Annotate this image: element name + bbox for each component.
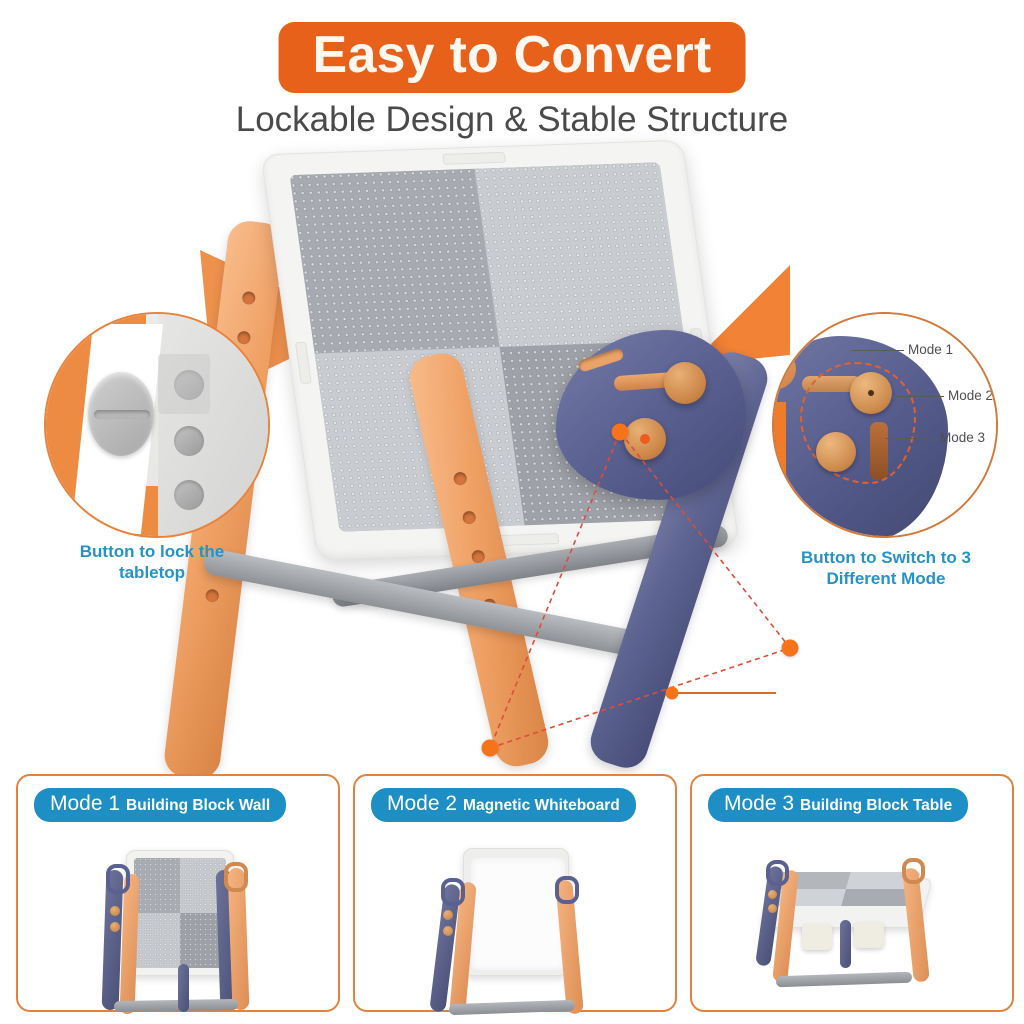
- callout-lock-button-magnifier: [44, 312, 270, 538]
- mode-card-2[interactable]: Mode 2Magnetic Whiteboard: [353, 774, 677, 1012]
- stable-structure-leader-line: [672, 692, 776, 694]
- triangle-vertex-right: [782, 640, 799, 657]
- callout-mode-switch-label: Button to Switch to 3 Different Mode: [768, 548, 1004, 589]
- triangle-vertex-top: [612, 424, 629, 441]
- page-subtitle: Lockable Design & Stable Structure: [236, 100, 789, 140]
- hinge-knob-upper: [664, 362, 706, 404]
- callout-left-line2: tabletop: [119, 563, 185, 582]
- mode-card-3-image: [692, 834, 1012, 1002]
- main-product-scene: Button to lock the tabletop Mode 1: [0, 140, 1024, 770]
- stable-structure-leader-dot: [666, 687, 679, 700]
- callout-lock-button-label: Button to lock the tabletop: [38, 542, 266, 583]
- mode-cards-row: Mode 1Building Block Wall: [0, 774, 1024, 1014]
- mode-card-3-badge: Mode 3Building Block Table: [708, 788, 968, 822]
- tabletop-lock-button: [88, 372, 154, 456]
- triangle-vertex-left: [482, 740, 499, 757]
- mode-card-1-badge: Mode 1Building Block Wall: [34, 788, 286, 822]
- infographic-root: Easy to Convert Lockable Design & Stable…: [0, 0, 1024, 1024]
- mode-card-1-number: Mode 1: [50, 792, 120, 815]
- callout-mode-switch-magnifier: Mode 1 Mode 2 Mode 3: [772, 312, 998, 538]
- mode-card-3-number: Mode 3: [724, 792, 794, 815]
- page-title: Easy to Convert: [279, 22, 746, 93]
- mode-2-leader-label: Mode 2: [948, 388, 993, 403]
- mode-card-1-desc: Building Block Wall: [126, 797, 270, 814]
- mode-switch-knob-upper: [850, 372, 892, 414]
- callout-left-line1: Button to lock the: [80, 542, 224, 561]
- callout-right-line2: Different Mode: [827, 569, 946, 588]
- mode-3-leader-label: Mode 3: [940, 430, 985, 445]
- mode-card-2-desc: Magnetic Whiteboard: [463, 797, 620, 814]
- mode-card-3[interactable]: Mode 3Building Block Table: [690, 774, 1014, 1012]
- mode-card-1-image: [18, 834, 338, 1002]
- mode-switch-knob-lower: [816, 432, 856, 472]
- mode-card-2-image: [355, 834, 675, 1002]
- mode-card-2-badge: Mode 2Magnetic Whiteboard: [371, 788, 636, 822]
- mode-1-leader-label: Mode 1: [908, 342, 953, 357]
- mode-card-1[interactable]: Mode 1Building Block Wall: [16, 774, 340, 1012]
- mode-card-2-number: Mode 2: [387, 792, 457, 815]
- mode-card-3-desc: Building Block Table: [800, 797, 952, 814]
- hinge-knob-lower: [624, 418, 666, 460]
- callout-right-line1: Button to Switch to 3: [801, 548, 971, 567]
